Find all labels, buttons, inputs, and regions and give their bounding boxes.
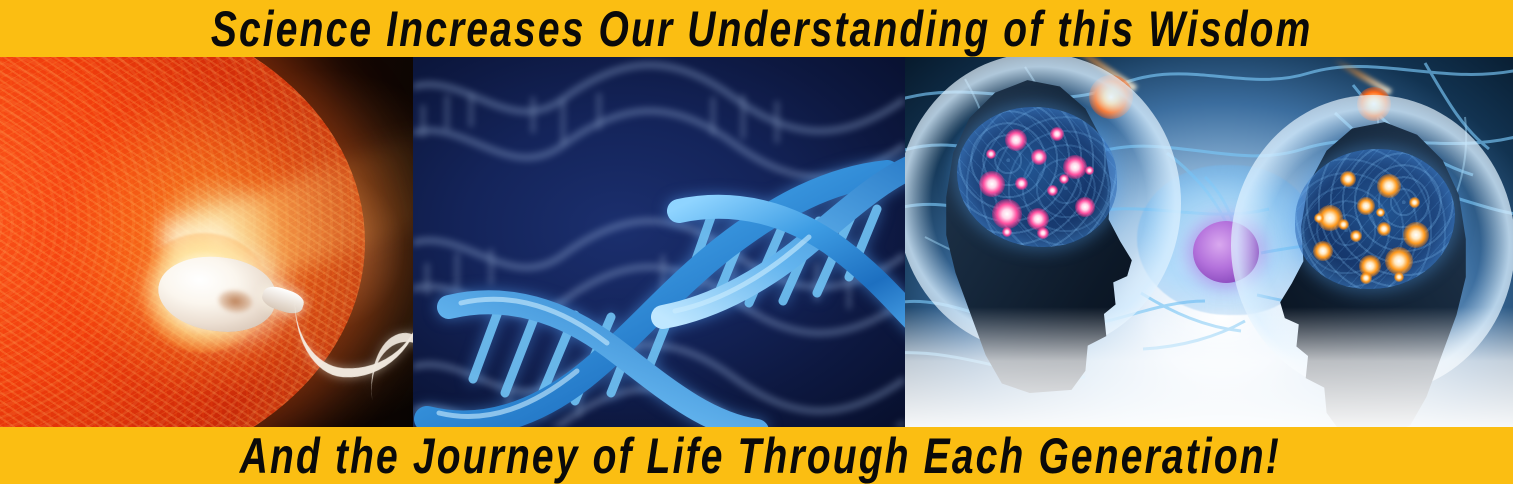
panel-brain-connection <box>905 57 1513 427</box>
bottom-white-strip <box>0 484 1513 491</box>
image-strip <box>0 57 1513 427</box>
bottom-banner-text: And the Journey of Life Through Each Gen… <box>232 431 1281 481</box>
brain-icon-left <box>957 107 1117 247</box>
panel-dna-helix <box>413 57 905 427</box>
brain-activity-right <box>1295 149 1455 289</box>
top-banner-bar: Science Increases Our Understanding of t… <box>0 0 1513 57</box>
panel-fertilization <box>0 57 413 427</box>
brain-activity-left <box>957 107 1117 247</box>
white-glow-floor <box>905 307 1513 427</box>
top-banner-text: Science Increases Our Understanding of t… <box>200 4 1313 54</box>
science-banner: Science Increases Our Understanding of t… <box>0 0 1513 491</box>
bottom-banner-bar: And the Journey of Life Through Each Gen… <box>0 427 1513 484</box>
dna-helix-icon <box>413 71 905 427</box>
brain-icon-right <box>1295 149 1455 289</box>
